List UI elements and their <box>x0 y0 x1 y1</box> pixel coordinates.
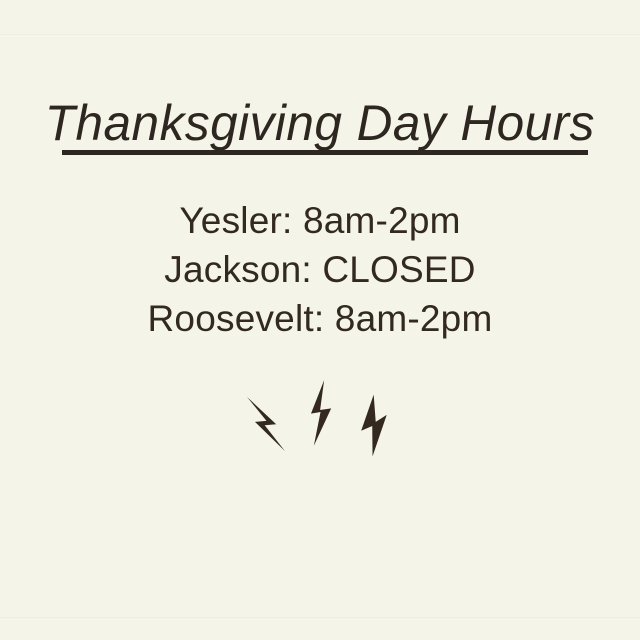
lightning-bolt-icon <box>344 391 403 459</box>
top-divider-shadow <box>0 36 640 37</box>
top-divider <box>0 34 640 35</box>
lightning-bolt-icon <box>244 390 289 459</box>
title-underline-rule <box>62 150 588 155</box>
page-title-container: Thanksgiving Day Hours <box>0 96 640 150</box>
hours-list: Yesler: 8am-2pm Jackson: CLOSED Roosevel… <box>0 196 640 343</box>
page-title: Thanksgiving Day Hours <box>45 96 595 150</box>
bottom-divider <box>0 617 640 618</box>
hours-poster: Thanksgiving Day Hours Yesler: 8am-2pm J… <box>0 0 640 640</box>
hours-line-roosevelt: Roosevelt: 8am-2pm <box>0 294 640 343</box>
hours-line-yesler: Yesler: 8am-2pm <box>0 196 640 245</box>
hours-line-jackson: Jackson: CLOSED <box>0 245 640 294</box>
lightning-bolt-icon <box>305 377 337 448</box>
lightning-bolt-group <box>0 376 640 466</box>
bottom-divider-shadow <box>0 619 640 620</box>
